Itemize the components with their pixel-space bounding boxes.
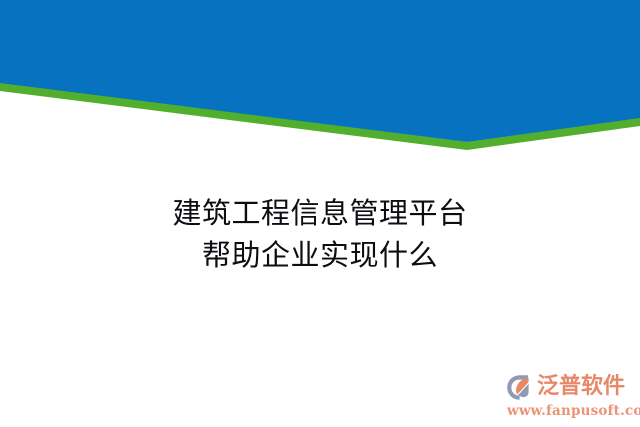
title-line-2: 帮助企业实现什么 (0, 234, 640, 276)
banner-blue-shape (0, 0, 640, 142)
title-line-1: 建筑工程信息管理平台 (0, 192, 640, 234)
slide-canvas: 建筑工程信息管理平台 帮助企业实现什么 泛普软件 www.fanpusoft.c… (0, 0, 640, 427)
logo-url: www.fanpusoft.com (506, 403, 638, 419)
header-banner (0, 0, 640, 160)
logo-row: 泛普软件 (506, 372, 638, 402)
logo-wordmark: 泛普软件 (537, 374, 625, 400)
page-title: 建筑工程信息管理平台 帮助企业实现什么 (0, 192, 640, 276)
fanpu-swoosh-icon (506, 374, 534, 401)
brand-watermark: 泛普软件 www.fanpusoft.com (506, 372, 638, 422)
